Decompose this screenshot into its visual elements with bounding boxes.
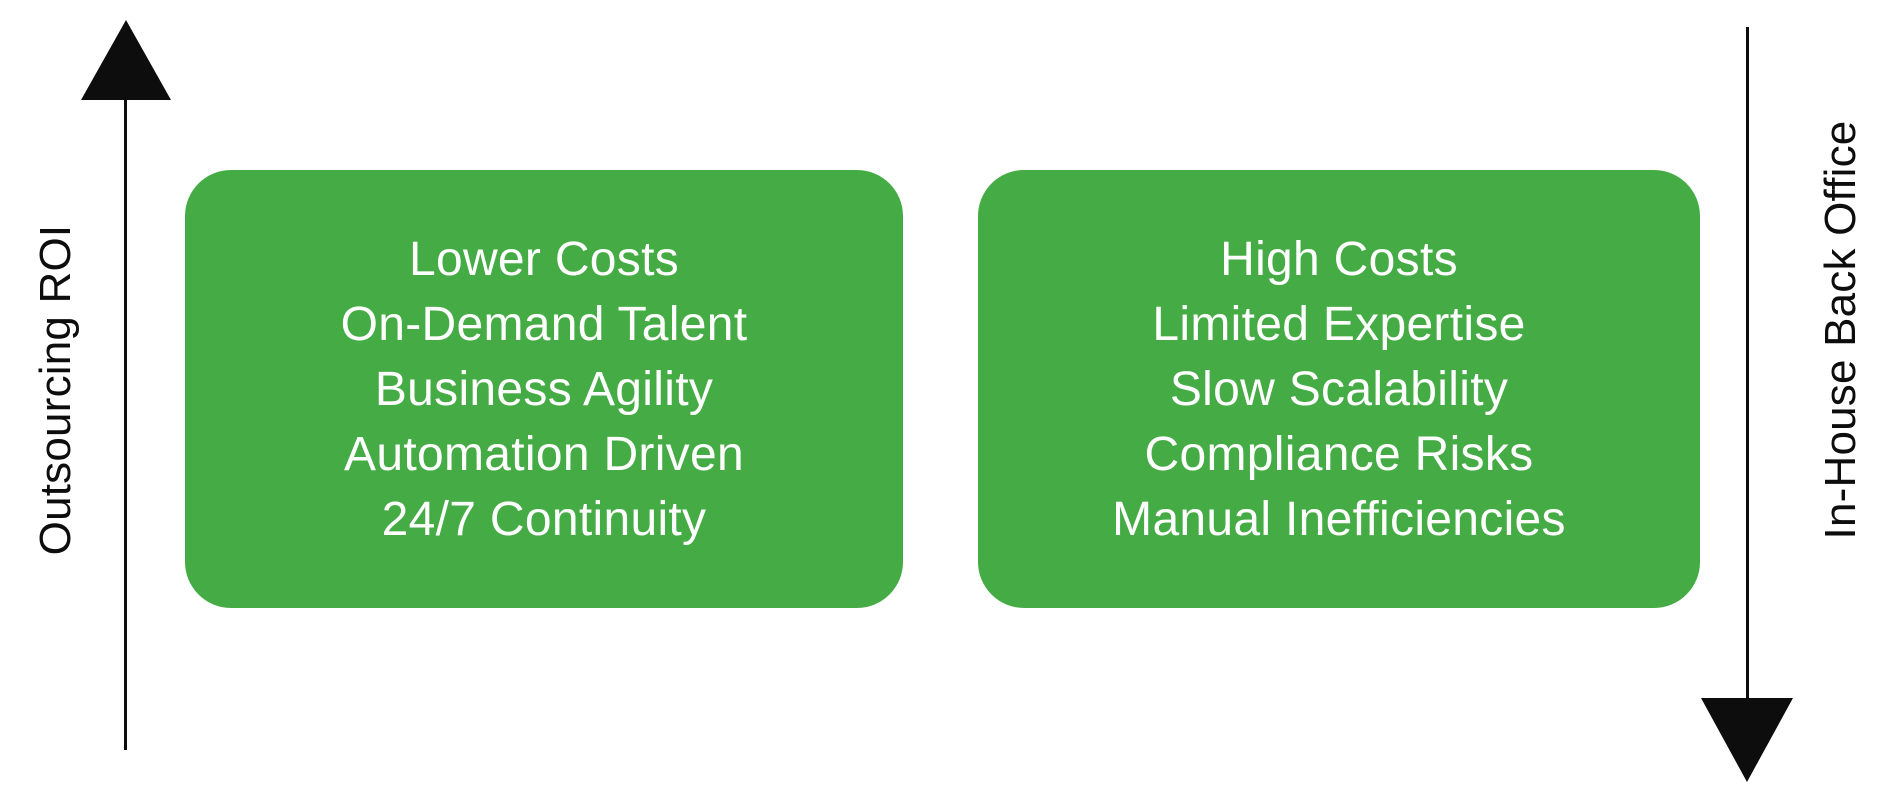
panel-line: 24/7 Continuity (382, 487, 707, 552)
panel-line: Automation Driven (344, 422, 744, 487)
panel-line: Business Agility (375, 357, 713, 422)
panel-line: On-Demand Talent (341, 292, 748, 357)
axis-outsourcing-roi: Outsourcing ROI (0, 0, 200, 798)
panel-in-house-drawbacks: High Costs Limited Expertise Slow Scalab… (978, 170, 1700, 608)
panel-line: Manual Inefficiencies (1112, 487, 1566, 552)
panel-line: Lower Costs (409, 227, 679, 292)
panel-line: Slow Scalability (1170, 357, 1508, 422)
axis-in-house-back-office: In-House Back Office (1700, 0, 1891, 798)
diagram-canvas: Outsourcing ROI Lower Costs On-Demand Ta… (0, 0, 1891, 798)
axis-line-right (1746, 27, 1749, 702)
axis-label-outsourcing-roi: Outsourcing ROI (31, 225, 81, 556)
panel-outsourcing-benefits: Lower Costs On-Demand Talent Business Ag… (185, 170, 903, 608)
axis-line-left (124, 96, 127, 750)
arrow-up-icon (81, 20, 171, 100)
arrow-down-icon (1701, 698, 1793, 782)
panel-line: High Costs (1220, 227, 1458, 292)
panel-line: Limited Expertise (1152, 292, 1525, 357)
panel-line: Compliance Risks (1145, 422, 1534, 487)
axis-label-in-house-back-office: In-House Back Office (1816, 121, 1866, 540)
